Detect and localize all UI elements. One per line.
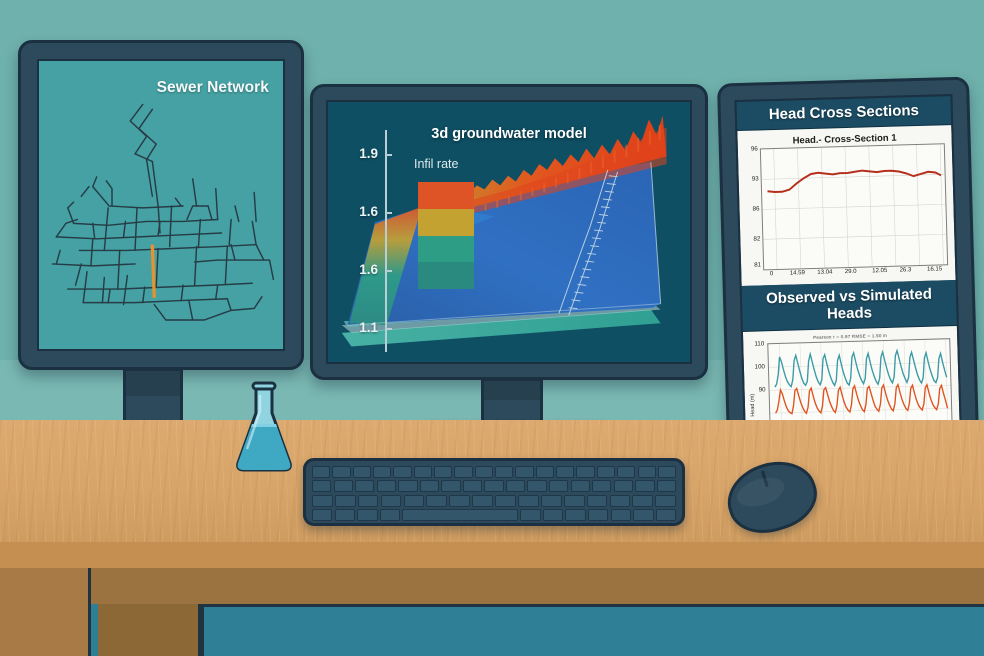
head-charts-monitor[interactable]: Head Cross Sections Head.- Cross-Section… — [717, 77, 979, 446]
key[interactable] — [312, 480, 331, 492]
cs-ytick-3: 86 — [745, 205, 759, 212]
key[interactable] — [576, 466, 594, 478]
keyboard-row — [312, 480, 676, 492]
legend-swatch-3 — [418, 236, 474, 263]
key[interactable] — [398, 480, 417, 492]
key[interactable] — [381, 495, 402, 507]
cs-xtick-2: 14.59 — [790, 270, 805, 276]
cs-xtick-3: 13.04 — [817, 269, 832, 275]
head-charts-screen[interactable]: Head Cross Sections Head.- Cross-Section… — [734, 94, 961, 428]
key[interactable] — [541, 495, 562, 507]
y-tick-3 — [385, 270, 392, 272]
cs-xtick-1: 0 — [770, 271, 774, 277]
key[interactable] — [420, 480, 439, 492]
floor-inner — [201, 604, 984, 656]
key[interactable] — [549, 480, 568, 492]
groundwater-model-monitor[interactable]: 3d groundwater model 1.9 1.6 1.6 1.1 Inf… — [310, 84, 708, 380]
key[interactable] — [658, 466, 676, 478]
desk-edge — [0, 542, 984, 571]
key[interactable] — [592, 480, 611, 492]
legend-swatch-4 — [418, 262, 474, 289]
mouse-highlight — [734, 472, 788, 511]
infil-rate-legend-title: Infil rate — [414, 157, 458, 171]
key[interactable] — [357, 509, 377, 521]
key[interactable] — [556, 466, 574, 478]
cs-xtick-6: 26.3 — [900, 267, 912, 273]
head-cross-sections-body: Head.- Cross-Section 1 96 — [737, 125, 955, 286]
key[interactable] — [638, 466, 656, 478]
desk-apron — [0, 568, 984, 607]
obs-yaxis-name: Head (m) — [750, 394, 757, 417]
y-tick-1 — [385, 154, 392, 156]
key[interactable] — [404, 495, 425, 507]
key[interactable] — [633, 509, 653, 521]
y-tick-2 — [385, 212, 392, 214]
sewer-network-diagram — [39, 61, 283, 349]
key[interactable] — [536, 466, 554, 478]
key[interactable] — [449, 495, 470, 507]
key[interactable] — [617, 466, 635, 478]
erlenmeyer-flask — [231, 377, 297, 474]
key[interactable] — [335, 495, 356, 507]
key[interactable] — [380, 509, 400, 521]
legend-swatch-2 — [418, 209, 474, 236]
keyboard-row — [312, 466, 676, 478]
key[interactable] — [335, 509, 355, 521]
cs-xtick-7: 16.15 — [927, 266, 942, 272]
key[interactable] — [426, 495, 447, 507]
key[interactable] — [657, 480, 676, 492]
key[interactable] — [565, 509, 585, 521]
key[interactable] — [632, 495, 653, 507]
y-axis-label-4: 1.1 — [336, 320, 378, 335]
key[interactable] — [571, 480, 590, 492]
desk-leg-left-lower — [98, 604, 201, 656]
keyboard-row — [312, 509, 676, 521]
cs-xtick-5: 12.05 — [872, 268, 887, 274]
cs-ytick-1: 96 — [744, 145, 758, 152]
cs-ytick-5: 81 — [747, 261, 761, 268]
key[interactable] — [506, 480, 525, 492]
key[interactable] — [588, 509, 608, 521]
key[interactable] — [518, 495, 539, 507]
key[interactable] — [614, 480, 633, 492]
groundwater-model-screen[interactable]: 3d groundwater model 1.9 1.6 1.6 1.1 Inf… — [326, 100, 692, 364]
key[interactable] — [611, 509, 631, 521]
key[interactable] — [414, 466, 432, 478]
obs-ytick-2: 100 — [751, 363, 765, 370]
keyboard-row — [312, 495, 676, 507]
key[interactable] — [312, 466, 330, 478]
key[interactable] — [332, 466, 350, 478]
key[interactable] — [441, 480, 460, 492]
key[interactable] — [355, 480, 374, 492]
key[interactable] — [312, 495, 333, 507]
key[interactable] — [377, 480, 396, 492]
cs-ytick-2: 93 — [745, 175, 759, 182]
groundwater-model-title: 3d groundwater model — [328, 126, 690, 142]
key[interactable] — [527, 480, 546, 492]
key[interactable] — [495, 495, 516, 507]
groundwater-y-axis — [385, 130, 387, 352]
key[interactable] — [610, 495, 631, 507]
sewer-network-monitor[interactable]: Sewer Network — [18, 40, 304, 370]
key[interactable] — [353, 466, 371, 478]
key[interactable] — [495, 466, 513, 478]
y-tick-4 — [385, 328, 392, 330]
obs-ytick-3: 90 — [751, 386, 765, 393]
keyboard[interactable] — [303, 458, 685, 526]
observed-vs-simulated-header: Observed vs Simulated Heads — [742, 280, 957, 332]
key[interactable] — [597, 466, 615, 478]
y-axis-label-3: 1.6 — [336, 262, 378, 277]
key[interactable] — [655, 495, 676, 507]
sewer-highlight-segment — [152, 245, 154, 298]
key[interactable] — [312, 509, 332, 521]
key[interactable] — [472, 495, 493, 507]
sewer-network-screen[interactable]: Sewer Network — [37, 59, 285, 351]
key[interactable] — [635, 480, 654, 492]
key[interactable] — [434, 466, 452, 478]
cross-section-plot: 96 93 86 82 81 0 14.59 13.04 29.0 12.05 … — [760, 143, 948, 270]
key[interactable] — [543, 509, 563, 521]
key[interactable] — [656, 509, 676, 521]
y-axis-label-1: 1.9 — [336, 146, 378, 161]
desk-leg-left — [0, 568, 91, 656]
spacebar-key[interactable] — [402, 509, 518, 521]
observed-vs-simulated-body: Pearson r = 0.97 RMSE = 1.50 m — [743, 326, 960, 428]
key[interactable] — [334, 480, 353, 492]
y-axis-label-2: 1.6 — [336, 204, 378, 219]
key[interactable] — [475, 466, 493, 478]
key[interactable] — [520, 509, 540, 521]
obs-ytick-1: 110 — [750, 340, 764, 347]
key[interactable] — [587, 495, 608, 507]
cs-xtick-4: 29.0 — [845, 269, 857, 275]
cs-ytick-4: 82 — [746, 235, 760, 242]
sewer-network-title: Sewer Network — [157, 79, 269, 97]
key[interactable] — [484, 480, 503, 492]
observed-vs-simulated-plot: 110 100 90 80 Head (m) 0 463 092 468 032… — [767, 338, 953, 428]
desk-scene: Sewer Network — [0, 0, 984, 656]
key[interactable] — [454, 466, 472, 478]
key[interactable] — [358, 495, 379, 507]
key[interactable] — [515, 466, 533, 478]
key[interactable] — [393, 466, 411, 478]
infil-rate-legend — [418, 182, 474, 289]
legend-swatch-1 — [418, 182, 474, 209]
key[interactable] — [463, 480, 482, 492]
key[interactable] — [564, 495, 585, 507]
key[interactable] — [373, 466, 391, 478]
